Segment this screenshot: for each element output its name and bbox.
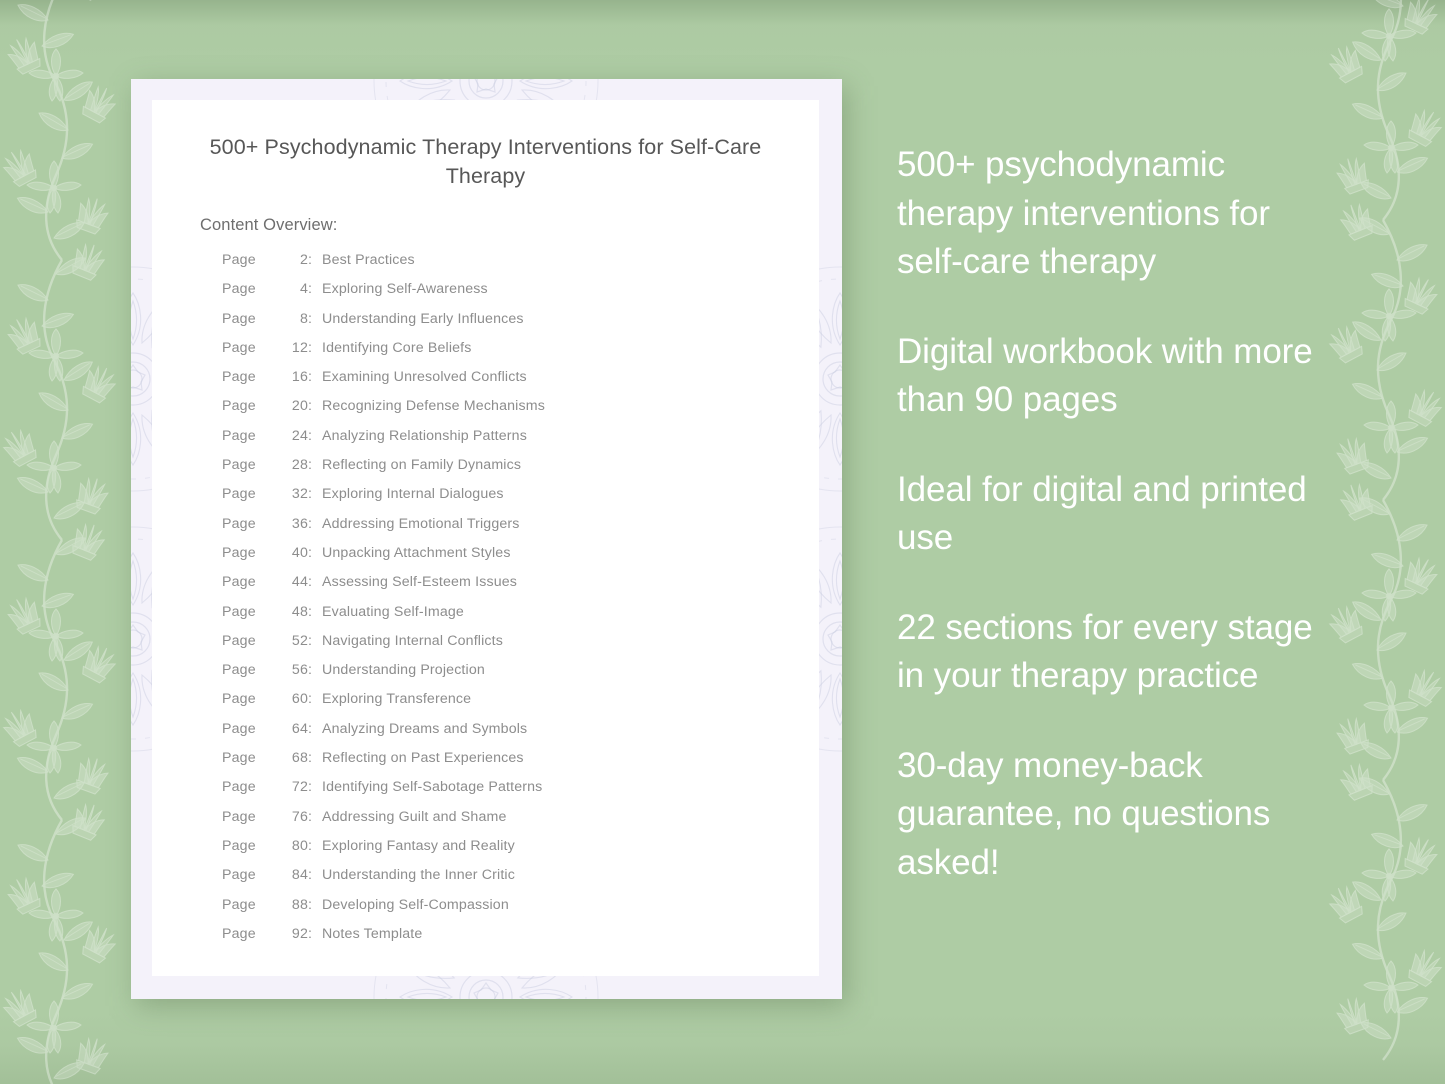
toc-entry-title: Analyzing Relationship Patterns — [322, 428, 527, 444]
toc-page-number: 88 — [282, 897, 308, 913]
table-of-contents-row: Page92:Notes Template — [222, 926, 802, 955]
toc-page-number: 52 — [282, 633, 308, 649]
toc-entry-title: Developing Self-Compassion — [322, 897, 509, 913]
toc-separator: : — [308, 721, 322, 737]
toc-page-number: 24 — [282, 428, 308, 444]
toc-separator: : — [308, 897, 322, 913]
table-of-contents-row: Page2:Best Practices — [222, 252, 802, 281]
toc-separator: : — [308, 457, 322, 473]
toc-page-number: 56 — [282, 662, 308, 678]
floral-vine-right-icon — [1303, 0, 1445, 1084]
toc-entry-title: Reflecting on Family Dynamics — [322, 457, 521, 473]
toc-entry-title: Understanding Projection — [322, 662, 485, 678]
toc-page-number: 40 — [282, 545, 308, 561]
toc-page-number: 16 — [282, 369, 308, 385]
toc-page-number: 36 — [282, 516, 308, 532]
table-of-contents-row: Page28:Reflecting on Family Dynamics — [222, 457, 802, 486]
table-of-contents-row: Page64:Analyzing Dreams and Symbols — [222, 721, 802, 750]
table-of-contents-row: Page56:Understanding Projection — [222, 662, 802, 691]
toc-page-word: Page — [222, 545, 282, 561]
table-of-contents-row: Page88:Developing Self-Compassion — [222, 897, 802, 926]
promo-graphic: 500+ Psychodynamic Therapy Interventions… — [0, 0, 1445, 1084]
table-of-contents-row: Page8:Understanding Early Influences — [222, 311, 802, 340]
toc-separator: : — [308, 691, 322, 707]
floral-vine-left-icon — [0, 0, 142, 1084]
toc-page-number: 64 — [282, 721, 308, 737]
toc-separator: : — [308, 662, 322, 678]
toc-separator: : — [308, 369, 322, 385]
table-of-contents-row: Page40:Unpacking Attachment Styles — [222, 545, 802, 574]
toc-page-word: Page — [222, 486, 282, 502]
toc-page-number: 28 — [282, 457, 308, 473]
toc-separator: : — [308, 633, 322, 649]
table-of-contents-row: Page4:Exploring Self-Awareness — [222, 281, 802, 310]
toc-separator: : — [308, 779, 322, 795]
toc-separator: : — [308, 398, 322, 414]
table-of-contents-row: Page16:Examining Unresolved Conflicts — [222, 369, 802, 398]
marketing-bullet-list: 500+ psychodynamic therapy interventions… — [897, 141, 1317, 887]
toc-page-word: Page — [222, 691, 282, 707]
toc-page-word: Page — [222, 340, 282, 356]
toc-page-word: Page — [222, 662, 282, 678]
table-of-contents-row: Page48:Evaluating Self-Image — [222, 604, 802, 633]
marketing-bullet: 22 sections for every stage in your ther… — [897, 604, 1317, 701]
toc-page-number: 80 — [282, 838, 308, 854]
toc-page-number: 76 — [282, 809, 308, 825]
toc-separator: : — [308, 486, 322, 502]
table-of-contents: Page2:Best PracticesPage4:Exploring Self… — [222, 252, 802, 955]
toc-entry-title: Recognizing Defense Mechanisms — [322, 398, 545, 414]
toc-page-word: Page — [222, 428, 282, 444]
toc-page-number: 32 — [282, 486, 308, 502]
toc-page-word: Page — [222, 867, 282, 883]
table-of-contents-row: Page44:Assessing Self-Esteem Issues — [222, 574, 802, 603]
toc-entry-title: Exploring Transference — [322, 691, 471, 707]
table-of-contents-row: Page32:Exploring Internal Dialogues — [222, 486, 802, 515]
toc-entry-title: Exploring Internal Dialogues — [322, 486, 504, 502]
toc-entry-title: Navigating Internal Conflicts — [322, 633, 503, 649]
marketing-bullet: Digital workbook with more than 90 pages — [897, 328, 1317, 425]
toc-entry-title: Understanding Early Influences — [322, 311, 524, 327]
toc-page-word: Page — [222, 809, 282, 825]
toc-page-number: 2 — [282, 252, 308, 268]
table-of-contents-row: Page20:Recognizing Defense Mechanisms — [222, 398, 802, 427]
toc-separator: : — [308, 428, 322, 444]
workbook-cover-inner: 500+ Psychodynamic Therapy Interventions… — [152, 100, 819, 976]
toc-page-number: 60 — [282, 691, 308, 707]
table-of-contents-row: Page68:Reflecting on Past Experiences — [222, 750, 802, 779]
toc-page-word: Page — [222, 252, 282, 268]
toc-entry-title: Analyzing Dreams and Symbols — [322, 721, 527, 737]
toc-separator: : — [308, 311, 322, 327]
page-title: 500+ Psychodynamic Therapy Interventions… — [197, 133, 774, 191]
toc-entry-title: Identifying Core Beliefs — [322, 340, 472, 356]
toc-page-number: 4 — [282, 281, 308, 297]
table-of-contents-row: Page84:Understanding the Inner Critic — [222, 867, 802, 896]
toc-entry-title: Understanding the Inner Critic — [322, 867, 515, 883]
toc-separator: : — [308, 545, 322, 561]
marketing-bullet: 500+ psychodynamic therapy interventions… — [897, 141, 1317, 287]
toc-page-word: Page — [222, 281, 282, 297]
table-of-contents-row: Page52:Navigating Internal Conflicts — [222, 633, 802, 662]
toc-separator: : — [308, 926, 322, 942]
toc-page-number: 84 — [282, 867, 308, 883]
toc-entry-title: Exploring Fantasy and Reality — [322, 838, 515, 854]
toc-separator: : — [308, 281, 322, 297]
toc-page-number: 12 — [282, 340, 308, 356]
table-of-contents-row: Page24:Analyzing Relationship Patterns — [222, 428, 802, 457]
table-of-contents-row: Page72:Identifying Self-Sabotage Pattern… — [222, 779, 802, 808]
toc-page-number: 8 — [282, 311, 308, 327]
toc-separator: : — [308, 252, 322, 268]
toc-entry-title: Addressing Emotional Triggers — [322, 516, 520, 532]
content-overview-label: Content Overview: — [200, 216, 337, 235]
toc-entry-title: Addressing Guilt and Shame — [322, 809, 507, 825]
toc-separator: : — [308, 838, 322, 854]
toc-page-number: 72 — [282, 779, 308, 795]
toc-entry-title: Unpacking Attachment Styles — [322, 545, 511, 561]
table-of-contents-row: Page76:Addressing Guilt and Shame — [222, 809, 802, 838]
toc-page-word: Page — [222, 926, 282, 942]
marketing-bullet: Ideal for digital and printed use — [897, 466, 1317, 563]
toc-page-word: Page — [222, 311, 282, 327]
toc-page-word: Page — [222, 838, 282, 854]
toc-separator: : — [308, 750, 322, 766]
toc-page-word: Page — [222, 897, 282, 913]
toc-separator: : — [308, 809, 322, 825]
toc-separator: : — [308, 604, 322, 620]
toc-entry-title: Best Practices — [322, 252, 415, 268]
toc-entry-title: Assessing Self-Esteem Issues — [322, 574, 517, 590]
toc-entry-title: Notes Template — [322, 926, 422, 942]
marketing-bullet: 30-day money-back guarantee, no question… — [897, 742, 1317, 888]
toc-page-word: Page — [222, 633, 282, 649]
toc-page-word: Page — [222, 369, 282, 385]
toc-separator: : — [308, 574, 322, 590]
table-of-contents-row: Page80:Exploring Fantasy and Reality — [222, 838, 802, 867]
toc-page-word: Page — [222, 721, 282, 737]
toc-page-word: Page — [222, 574, 282, 590]
toc-page-word: Page — [222, 604, 282, 620]
toc-page-number: 48 — [282, 604, 308, 620]
table-of-contents-row: Page36:Addressing Emotional Triggers — [222, 516, 802, 545]
toc-page-word: Page — [222, 516, 282, 532]
toc-page-word: Page — [222, 779, 282, 795]
toc-entry-title: Identifying Self-Sabotage Patterns — [322, 779, 542, 795]
toc-entry-title: Exploring Self-Awareness — [322, 281, 488, 297]
table-of-contents-row: Page12:Identifying Core Beliefs — [222, 340, 802, 369]
toc-page-number: 44 — [282, 574, 308, 590]
toc-entry-title: Evaluating Self-Image — [322, 604, 464, 620]
toc-page-word: Page — [222, 457, 282, 473]
toc-separator: : — [308, 867, 322, 883]
toc-page-word: Page — [222, 398, 282, 414]
toc-separator: : — [308, 516, 322, 532]
toc-page-number: 68 — [282, 750, 308, 766]
toc-page-number: 92 — [282, 926, 308, 942]
table-of-contents-row: Page60:Exploring Transference — [222, 691, 802, 720]
toc-page-word: Page — [222, 750, 282, 766]
toc-entry-title: Examining Unresolved Conflicts — [322, 369, 527, 385]
toc-page-number: 20 — [282, 398, 308, 414]
toc-entry-title: Reflecting on Past Experiences — [322, 750, 524, 766]
workbook-cover-card: 500+ Psychodynamic Therapy Interventions… — [131, 79, 842, 999]
toc-separator: : — [308, 340, 322, 356]
